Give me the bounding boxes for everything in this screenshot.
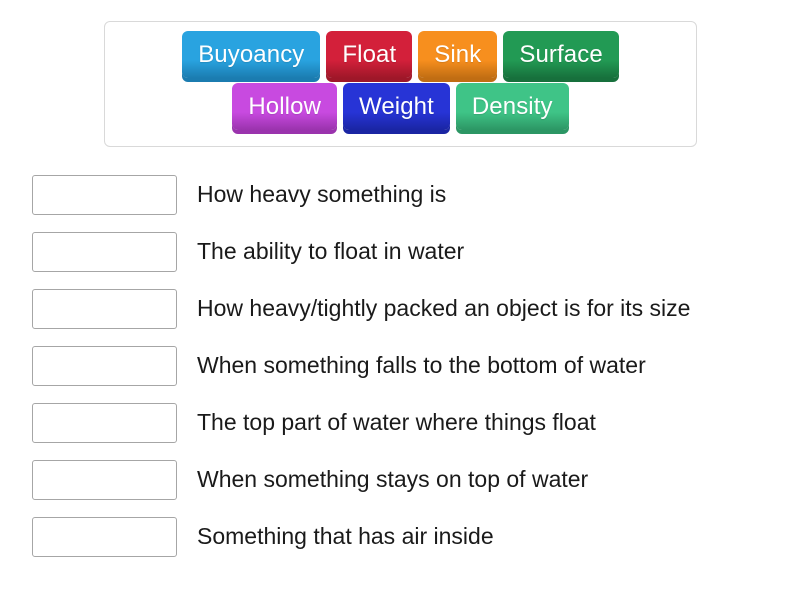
- definition-row: The top part of water where things float: [32, 402, 792, 443]
- definition-row: The ability to float in water: [32, 231, 792, 272]
- word-tile-label: Weight: [359, 95, 434, 119]
- word-tile-label: Hollow: [248, 95, 321, 119]
- definition-text: The top part of water where things float: [197, 410, 596, 435]
- answer-slot[interactable]: [32, 517, 177, 557]
- word-bank-row-1: Buyoancy Float Sink Surface: [113, 31, 688, 78]
- definition-list: How heavy something is The ability to fl…: [32, 174, 792, 573]
- answer-slot[interactable]: [32, 403, 177, 443]
- word-tile-label: Sink: [434, 43, 481, 67]
- answer-slot[interactable]: [32, 346, 177, 386]
- word-bank-row-2: Hollow Weight Density: [113, 83, 688, 130]
- definition-text: When something stays on top of water: [197, 467, 588, 492]
- definition-row: Something that has air inside: [32, 516, 792, 557]
- word-tile-label: Float: [342, 43, 396, 67]
- answer-slot[interactable]: [32, 232, 177, 272]
- answer-slot[interactable]: [32, 460, 177, 500]
- word-bank: Buyoancy Float Sink Surface Hollow Weigh…: [104, 21, 697, 147]
- definition-row: How heavy something is: [32, 174, 792, 215]
- word-tile-density[interactable]: Density: [456, 83, 569, 130]
- word-tile-buyoancy[interactable]: Buyoancy: [182, 31, 320, 78]
- definition-text: How heavy/tightly packed an object is fo…: [197, 296, 690, 321]
- word-tile-label: Buyoancy: [198, 43, 304, 67]
- word-tile-label: Surface: [519, 43, 602, 67]
- word-tile-surface[interactable]: Surface: [503, 31, 618, 78]
- word-tile-hollow[interactable]: Hollow: [232, 83, 337, 130]
- definition-text: The ability to float in water: [197, 239, 464, 264]
- definition-text: Something that has air inside: [197, 524, 494, 549]
- definition-text: How heavy something is: [197, 182, 446, 207]
- definition-text: When something falls to the bottom of wa…: [197, 353, 646, 378]
- answer-slot[interactable]: [32, 289, 177, 329]
- answer-slot[interactable]: [32, 175, 177, 215]
- definition-row: When something stays on top of water: [32, 459, 792, 500]
- word-tile-sink[interactable]: Sink: [418, 31, 497, 78]
- word-tile-float[interactable]: Float: [326, 31, 412, 78]
- definition-row: When something falls to the bottom of wa…: [32, 345, 792, 386]
- word-tile-weight[interactable]: Weight: [343, 83, 450, 130]
- definition-row: How heavy/tightly packed an object is fo…: [32, 288, 792, 329]
- word-tile-label: Density: [472, 95, 553, 119]
